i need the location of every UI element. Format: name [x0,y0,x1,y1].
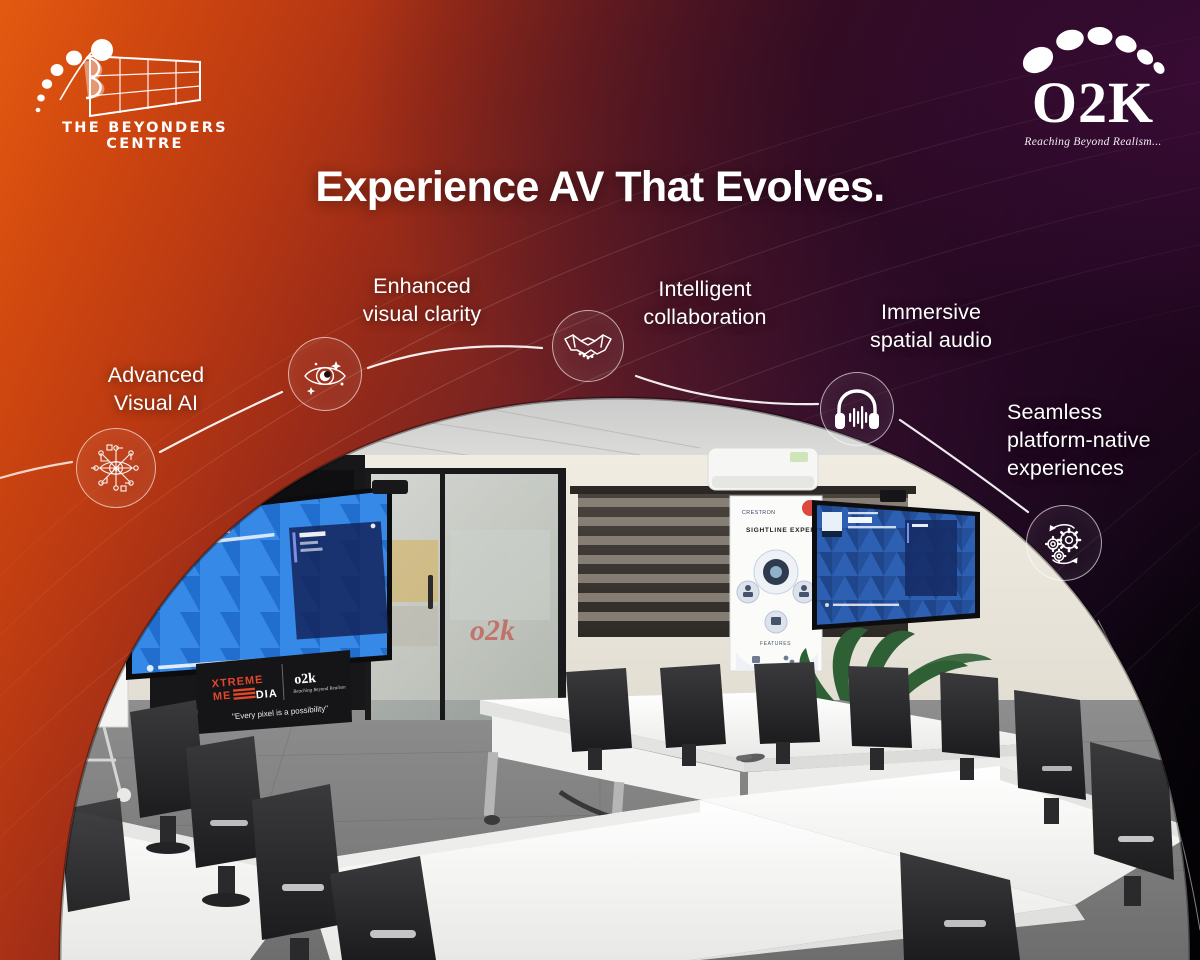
ai-circuit-eye-icon: AI [87,439,145,497]
headphones-waveform-icon [830,382,884,436]
beyonders-centre-name: THE BEYONDERS CENTRE [32,120,258,152]
feature-label-seamless-platform-native: Seamless platform-native experiences [1007,399,1197,483]
o2k-tagline: Reaching Beyond Realism... [1008,136,1178,148]
eye-sparkle-icon [297,346,353,402]
handshake-icon [561,319,615,373]
beyonders-mark-icon [30,28,260,123]
feature-label-intelligent-collaboration: Intelligent collaboration [610,276,800,332]
beyonders-centre-logo: THE BEYONDERS CENTRE [30,28,260,148]
feature-icon-advanced-visual-ai[interactable]: AI [76,428,156,508]
feature-icon-enhanced-visual-clarity[interactable] [288,337,362,411]
o2k-wordmark: O2K [1008,74,1178,132]
feature-icon-seamless-platform-native[interactable] [1026,505,1102,581]
o2k-dots-arc-icon [1008,24,1178,74]
feature-label-advanced-visual-ai: Advanced Visual AI [86,362,226,418]
page-title: Experience AV That Evolves. [0,163,1200,212]
feature-label-enhanced-visual-clarity: Enhanced visual clarity [322,273,522,329]
poster-canvas: o2k [0,0,1200,960]
ai-icon-text: AI [112,464,119,473]
gears-refresh-icon [1036,515,1092,571]
feature-label-immersive-spatial-audio: Immersive spatial audio [838,299,1024,355]
o2k-logo: O2K Reaching Beyond Realism... [1008,24,1178,144]
feature-icon-intelligent-collaboration[interactable] [552,310,624,382]
feature-icon-immersive-spatial-audio[interactable] [820,372,894,446]
